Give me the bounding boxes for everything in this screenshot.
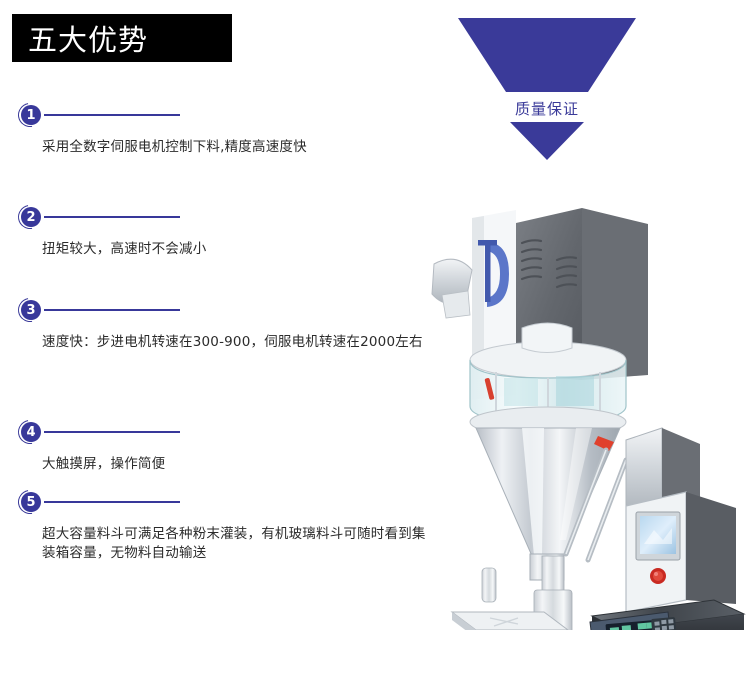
feature-text-3: 速度快：步进电机转速在300-900，伺服电机转速在2000左右	[42, 333, 432, 352]
feature-item-1: 1 采用全数字伺服电机控制下料,精度高速度快	[18, 103, 438, 157]
badge-circle: 4	[21, 422, 41, 442]
control-panel	[626, 492, 736, 612]
feature-text-4: 大触摸屏，操作简便	[42, 455, 432, 474]
badge-circle: 3	[21, 300, 41, 320]
promo-page: 五大优势 1 采用全数字伺服电机控制下料,精度高速度快 2	[0, 0, 750, 677]
funnel-trapezoid	[458, 18, 636, 92]
badge-circle: 2	[21, 207, 41, 227]
badge-number-label: 4	[26, 426, 35, 439]
number-badge-5: 5	[18, 490, 42, 514]
machine-photo	[430, 160, 750, 630]
weighing-scale	[590, 600, 744, 630]
funnel-triangle	[510, 122, 584, 160]
feature-head-5: 5	[18, 490, 438, 516]
feature-item-2: 2 扭矩较大，高速时不会减小	[18, 205, 438, 259]
filling-machine-illustration	[430, 160, 750, 630]
number-badge-4: 4	[18, 420, 42, 444]
quality-funnel-graphic: 质量保证	[452, 14, 642, 162]
funnel-icon	[452, 14, 642, 162]
feature-text-1: 采用全数字伺服电机控制下料,精度高速度快	[42, 138, 432, 157]
scale-keypad[interactable]	[651, 617, 677, 630]
feature-text-5: 超大容量料斗可满足各种粉末灌装，有机玻璃料斗可随时看到集装箱容量，无物料自动输送	[42, 525, 432, 563]
side-chute	[432, 259, 472, 318]
badge-number-label: 5	[26, 496, 35, 509]
feature-item-5: 5 超大容量料斗可满足各种粉末灌装，有机玻璃料斗可随时看到集装箱容量，无物料自动…	[18, 490, 438, 563]
funnel-label: 质量保证	[452, 98, 642, 119]
feature-head-1: 1	[18, 103, 438, 129]
feature-rule-4	[44, 431, 180, 433]
badge-circle: 1	[21, 105, 41, 125]
feature-rule-1	[44, 114, 180, 116]
machine-stand	[443, 556, 599, 630]
badge-number-label: 3	[26, 304, 35, 317]
badge-number-label: 1	[26, 109, 35, 122]
feature-head-4: 4	[18, 420, 438, 446]
feature-item-3: 3 速度快：步进电机转速在300-900，伺服电机转速在2000左右	[18, 298, 438, 352]
feature-text-2: 扭矩较大，高速时不会减小	[42, 240, 432, 259]
feature-list: 1 采用全数字伺服电机控制下料,精度高速度快 2 扭矩较大，高速时不会减小	[0, 0, 440, 677]
number-badge-2: 2	[18, 205, 42, 229]
feature-rule-3	[44, 309, 180, 311]
feature-item-4: 4 大触摸屏，操作简便	[18, 420, 438, 474]
feature-rule-5	[44, 501, 180, 503]
feature-head-2: 2	[18, 205, 438, 231]
number-badge-1: 1	[18, 103, 42, 127]
feature-head-3: 3	[18, 298, 438, 324]
feature-rule-2	[44, 216, 180, 218]
number-badge-3: 3	[18, 298, 42, 322]
badge-circle: 5	[21, 492, 41, 512]
badge-number-label: 2	[26, 211, 35, 224]
